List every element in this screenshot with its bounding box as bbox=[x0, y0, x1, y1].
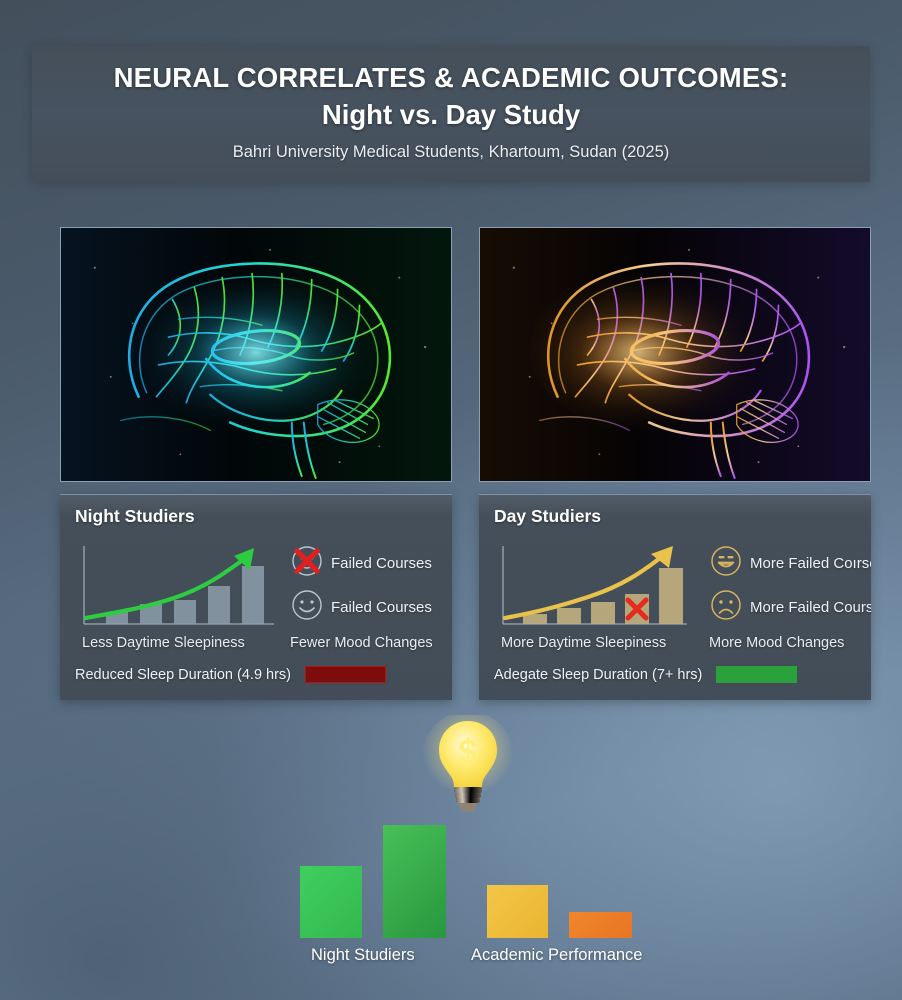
panel-night-studiers: Night Studiers Less Daytime Sleepiness F… bbox=[60, 494, 452, 700]
bottom-bar-3 bbox=[487, 885, 548, 938]
day-sleep-label: Adegate Sleep Duration (7+ hrs) bbox=[494, 667, 702, 683]
night-icon-row-failed-courses: Failed Courses bbox=[291, 545, 432, 582]
smiley-face-icon bbox=[291, 589, 323, 626]
night-sleep-bar bbox=[305, 666, 386, 683]
bottom-bar-2 bbox=[383, 825, 446, 938]
day-icon-label-1: More Failed Coırses bbox=[750, 555, 871, 572]
night-gpa-mini-chart bbox=[78, 542, 283, 634]
day-sleep-duration-row: Adegate Sleep Duration (7+ hrs) bbox=[494, 666, 797, 683]
failed-courses-crossed-out-icon bbox=[291, 545, 323, 582]
bottom-bar-label-night-studiers: Night Studiers bbox=[311, 946, 415, 965]
lightbulb-dollar-icon: $ bbox=[420, 715, 516, 815]
dollar-symbol: $ bbox=[458, 733, 477, 772]
night-sleep-duration-row: Reduced Sleep Duration (4.9 hrs) bbox=[75, 666, 386, 683]
poster-title-line-1: NEURAL CORRELATES & ACADEMIC OUTCOMES: bbox=[32, 60, 870, 96]
bottom-bar-1 bbox=[300, 866, 362, 938]
night-mood-caption: Fewer Mood Changes bbox=[290, 635, 433, 651]
brain-image-day bbox=[479, 227, 871, 482]
poster-subtitle: Bahri University Medical Students, Khart… bbox=[32, 143, 870, 162]
bottom-bar-label-academic-performance: Academic Performance bbox=[471, 946, 643, 965]
header-band: NEURAL CORRELATES & ACADEMIC OUTCOMES: N… bbox=[32, 46, 870, 182]
poster-title-line-2: Night vs. Day Study bbox=[32, 96, 870, 134]
day-chart-caption: More Daytime Sleepiness bbox=[501, 635, 666, 651]
night-chart-caption: Less Daytime Sleepiness bbox=[82, 635, 245, 651]
day-icon-row-failed-courses: More Failed Coırses bbox=[710, 545, 871, 582]
day-icon-row-mood: More Failed Courses bbox=[710, 589, 871, 626]
day-gpa-mini-chart bbox=[497, 542, 702, 634]
night-icon-label-2: Failed Courses bbox=[331, 599, 432, 616]
grinning-face-icon bbox=[710, 545, 742, 582]
night-sleep-label: Reduced Sleep Duration (4.9 hrs) bbox=[75, 667, 291, 683]
panel-title-day: Day Studiers bbox=[494, 506, 601, 527]
day-sleep-bar bbox=[716, 666, 797, 683]
infographic-poster: NEURAL CORRELATES & ACADEMIC OUTCOMES: N… bbox=[0, 0, 902, 1000]
day-icon-label-2: More Failed Courses bbox=[750, 599, 871, 616]
night-icon-row-mood: Failed Courses bbox=[291, 589, 432, 626]
panel-day-studiers: Day Studiers More Daytime Sleepiness Mor… bbox=[479, 494, 871, 700]
frowning-face-icon bbox=[710, 589, 742, 626]
brain-image-night bbox=[60, 227, 452, 482]
bottom-bar-4 bbox=[569, 912, 632, 938]
day-mood-caption: More Mood Changes bbox=[709, 635, 844, 651]
panel-title-night: Night Studiers bbox=[75, 506, 195, 527]
night-icon-label-1: Failed Courses bbox=[331, 555, 432, 572]
